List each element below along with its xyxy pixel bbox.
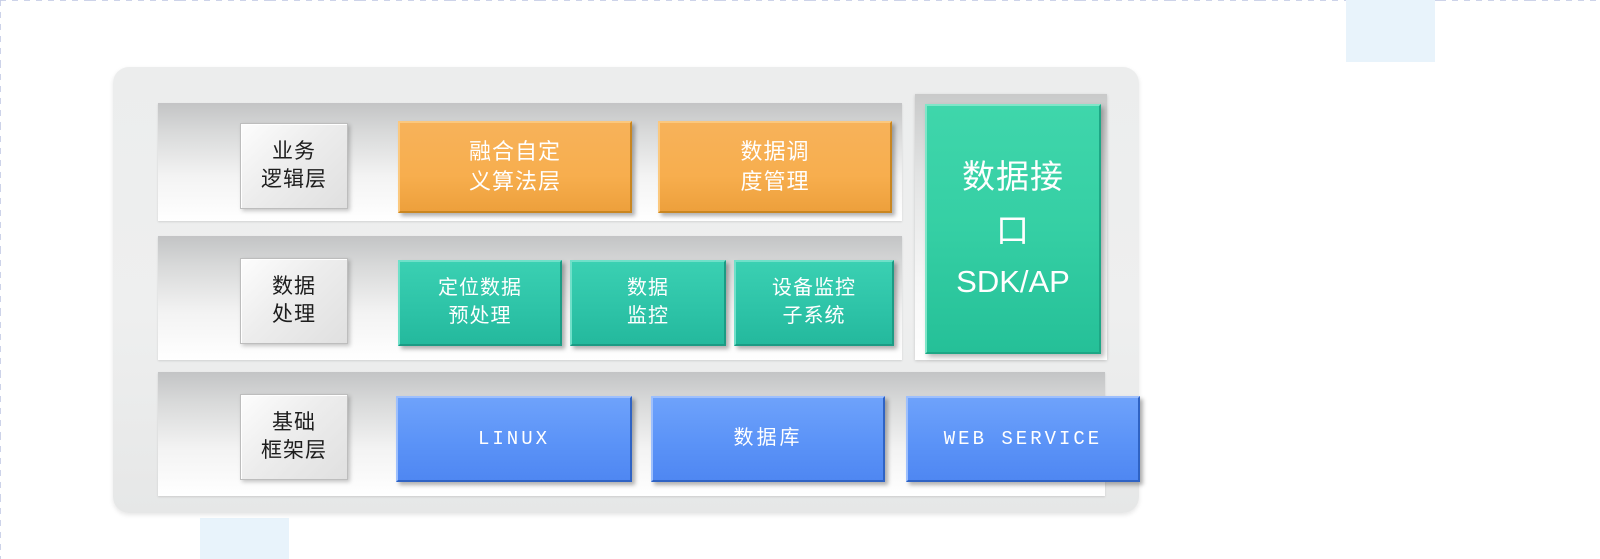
module-label-line2: 度管理 xyxy=(740,167,809,197)
module-label-line1: WEB SERVICE xyxy=(944,426,1102,452)
tier-label-line2: 框架层 xyxy=(261,437,327,465)
tier-label-line1: 基础 xyxy=(272,409,316,437)
tier-label-base-framework: 基础 框架层 xyxy=(240,394,348,480)
tier-label-line1: 业务 xyxy=(272,138,316,166)
module-device-monitoring-subsystem[interactable]: 设备监控 子系统 xyxy=(734,260,894,346)
module-fusion-custom-algorithm-layer[interactable]: 融合自定 义算法层 xyxy=(398,121,632,213)
module-label-line1: 定位数据 xyxy=(438,275,522,303)
module-data-interface-sdk-api[interactable]: 数据接 口 SDK/AP xyxy=(925,104,1101,354)
module-linux[interactable]: LINUX xyxy=(396,396,632,482)
tier-label-line2: 处理 xyxy=(272,301,316,329)
module-label-line1: 数据库 xyxy=(734,425,803,453)
tier-label-line1: 数据 xyxy=(272,273,316,301)
tier-label-line2: 逻辑层 xyxy=(261,166,327,194)
grid-cell-highlight-top-right xyxy=(1346,0,1435,62)
interface-label-line1: 数据接 xyxy=(962,150,1064,203)
data-interface-bezel: 数据接 口 SDK/AP xyxy=(915,94,1107,360)
tier-band-data-processing: 数据 处理 定位数据 预处理 数据 监控 设备监控 子系统 xyxy=(158,236,902,360)
module-data-scheduling-management[interactable]: 数据调 度管理 xyxy=(658,121,892,213)
tier-band-business-logic: 业务 逻辑层 融合自定 义算法层 数据调 度管理 xyxy=(158,103,902,221)
tier-band-base-framework: 基础 框架层 LINUX 数据库 WEB SERVICE xyxy=(158,372,1105,496)
module-label-line2: 子系统 xyxy=(783,303,846,331)
module-label-line2: 监控 xyxy=(627,303,669,331)
architecture-panel: 业务 逻辑层 融合自定 义算法层 数据调 度管理 数据 处理 定位数据 预处理 … xyxy=(113,67,1139,513)
module-label-line1: 融合自定 xyxy=(469,137,561,167)
module-label-line1: LINUX xyxy=(478,426,550,452)
module-label-line2: 预处理 xyxy=(449,303,512,331)
module-data-monitoring[interactable]: 数据 监控 xyxy=(570,260,726,346)
interface-label-sdk-api: SDK/AP xyxy=(956,257,1070,307)
module-label-line2: 义算法层 xyxy=(469,167,561,197)
module-label-line1: 数据 xyxy=(627,275,669,303)
module-positioning-data-preprocessing[interactable]: 定位数据 预处理 xyxy=(398,260,562,346)
module-database[interactable]: 数据库 xyxy=(651,396,885,482)
grid-cell-highlight-bottom-left xyxy=(200,518,289,559)
interface-label-line2: 口 xyxy=(996,204,1030,257)
tier-label-business-logic: 业务 逻辑层 xyxy=(240,123,348,209)
module-web-service[interactable]: WEB SERVICE xyxy=(906,396,1140,482)
tier-label-data-processing: 数据 处理 xyxy=(240,258,348,344)
module-label-line1: 设备监控 xyxy=(772,275,856,303)
module-label-line1: 数据调 xyxy=(740,137,809,167)
